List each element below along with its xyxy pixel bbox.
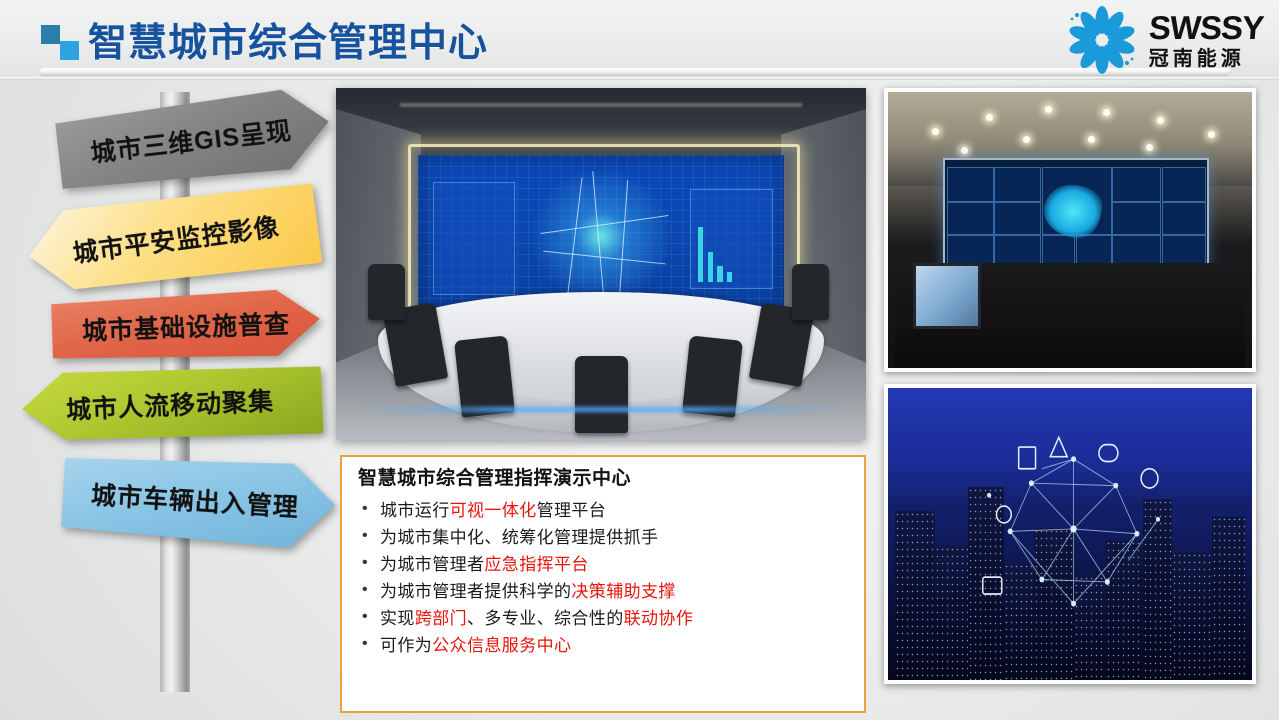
- bullet-text: 为城市集中化、统筹化管理提供抓手: [380, 528, 658, 547]
- highlighted-text: 应急指挥平台: [484, 555, 588, 574]
- command-center-room-photo: [336, 88, 866, 440]
- page-title: 智慧城市综合管理中心: [88, 12, 488, 68]
- monitoring-center-scene: [888, 92, 1252, 368]
- smart-city-network-photo: [884, 384, 1256, 684]
- office-chair: [368, 264, 405, 320]
- brand-wordmark: SWSSY 冠南能源: [1149, 11, 1263, 69]
- office-chair: [454, 335, 515, 418]
- feature-bullet-item: 实现跨部门、多专业、综合性的联动协作: [358, 605, 848, 632]
- bullet-text: 、多专业、综合性的: [467, 609, 624, 628]
- brand-name-en: SWSSY: [1148, 11, 1265, 44]
- dashboard-video-wall: [943, 158, 1209, 272]
- petal-flower-icon: [1065, 6, 1139, 74]
- signpost-arrow-surveillance[interactable]: 城市平安监控影像: [24, 177, 323, 300]
- office-chair: [575, 356, 628, 433]
- bullet-text: 城市运行: [380, 501, 450, 520]
- textbox-title: 智慧城市综合管理指挥演示中心: [358, 468, 848, 491]
- brand-logo: SWSSY 冠南能源: [1065, 6, 1263, 74]
- title-underline-rule: [40, 68, 1230, 75]
- decor-square-dark-icon: [41, 25, 60, 44]
- desktop-monitor: [913, 263, 981, 330]
- bullet-text: 管理平台: [537, 501, 607, 520]
- highlighted-text: 公众信息服务中心: [432, 636, 571, 655]
- signpost-arrow-crowd-flow[interactable]: 城市人流移动聚集: [21, 361, 324, 446]
- office-chair: [792, 264, 829, 320]
- bullet-text: 为城市管理者: [380, 555, 484, 574]
- left-data-panel: [433, 182, 515, 296]
- bullet-text: 为城市管理者提供科学的: [380, 582, 571, 601]
- feature-bullet-item: 为城市管理者应急指挥平台: [358, 551, 848, 578]
- feature-bullet-item: 可作为公众信息服务中心: [358, 632, 848, 659]
- floor-led-strip: [357, 407, 845, 412]
- signpost-arrow-label: 城市基础设施普查: [81, 304, 290, 347]
- monitoring-center-room-photo: [884, 88, 1256, 372]
- highlighted-text: 可视一体化: [450, 501, 537, 520]
- decor-square-light-icon: [60, 41, 79, 60]
- description-textbox: 智慧城市综合管理指挥演示中心 城市运行可视一体化管理平台为城市集中化、统筹化管理…: [340, 455, 866, 713]
- feature-bullet-item: 为城市管理者提供科学的决策辅助支撑: [358, 578, 848, 605]
- bullet-text: 实现: [380, 609, 415, 628]
- signpost-arrow-infrastructure[interactable]: 城市基础设施普查: [51, 288, 321, 363]
- highlighted-text: 决策辅助支撑: [571, 582, 675, 601]
- feature-bullet-item: 城市运行可视一体化管理平台: [358, 497, 848, 524]
- signpost-arrow-gis[interactable]: 城市三维GIS呈现: [54, 85, 333, 195]
- highlighted-text: 联动协作: [624, 609, 694, 628]
- office-chair: [682, 335, 743, 418]
- feature-bullet-list: 城市运行可视一体化管理平台为城市集中化、统筹化管理提供抓手为城市管理者应急指挥平…: [358, 497, 848, 659]
- signpost-arrow-vehicle-access[interactable]: 城市车辆出入管理: [61, 450, 338, 550]
- bullet-text: 可作为: [380, 636, 432, 655]
- highlighted-text: 跨部门: [415, 609, 467, 628]
- brand-name-cn: 冠南能源: [1149, 49, 1245, 69]
- command-center-scene: [336, 88, 866, 440]
- right-data-panel: [690, 189, 772, 289]
- slide-root: 智慧城市综合管理中心: [0, 0, 1279, 720]
- iot-network-graphic: [968, 435, 1179, 628]
- feature-bullet-item: 为城市集中化、统筹化管理提供抓手: [358, 524, 848, 551]
- smart-city-scene: [888, 388, 1252, 680]
